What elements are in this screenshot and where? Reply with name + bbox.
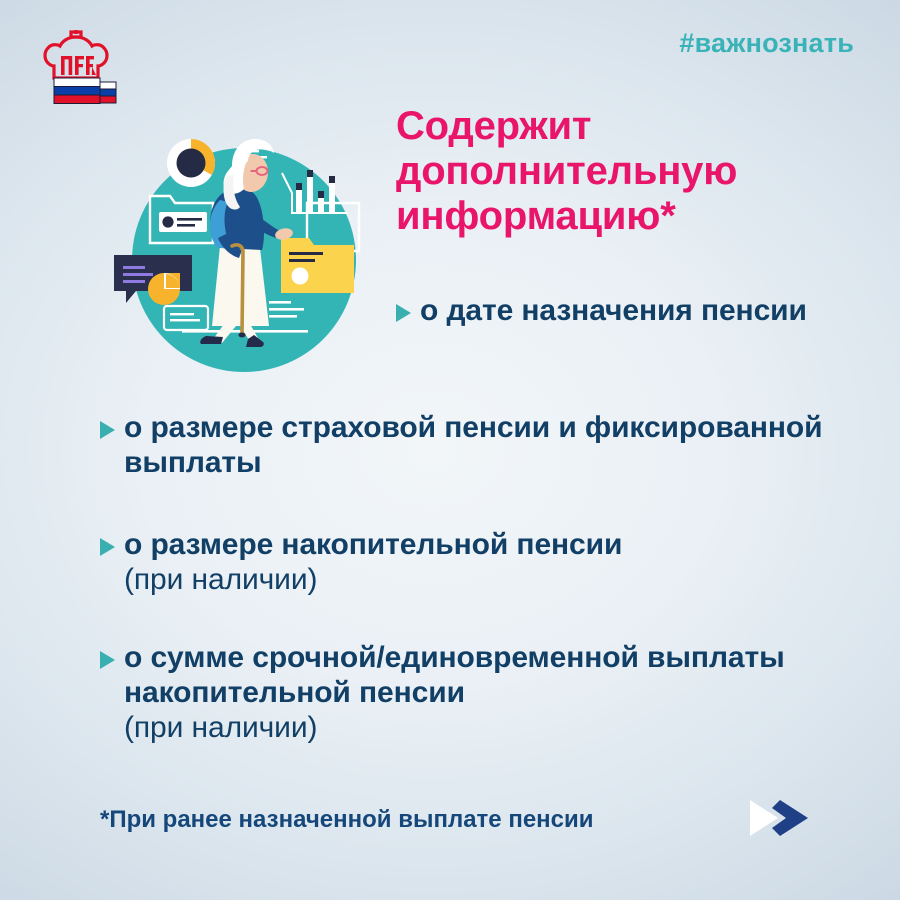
triangle-bullet-icon — [100, 421, 115, 439]
infographic-poster: #важнознать — [0, 0, 900, 900]
triangle-bullet-icon — [100, 538, 115, 556]
heading-line-2: дополнительную — [396, 149, 826, 194]
folder-card-contents — [159, 212, 207, 232]
bullet-text: о размере страховой пенсии и фикси­рован… — [124, 410, 890, 480]
page-title: Содержит дополнительную информацию* — [396, 104, 826, 240]
bullet-item-funded-pension-amount: о размере накопительной пенсии (при нали… — [100, 527, 890, 597]
bullet-text-wrap: о сумме срочной/единовременной выплаты н… — [124, 640, 890, 745]
pfr-logo — [30, 26, 122, 106]
hashtag-label: #важнознать — [679, 28, 854, 59]
elderly-woman-with-cane-illustration — [104, 128, 376, 400]
bullet-text-wrap: о размере накопительной пенсии (при нали… — [124, 527, 622, 597]
bullet-text: о дате назначения пенсии — [420, 293, 807, 328]
yellow-folder — [281, 238, 354, 293]
bullet-subtext: (при наличии) — [124, 562, 622, 597]
bullet-item-date-of-assignment: о дате назначения пенсии — [396, 293, 826, 328]
double-chevron-arrow-icon — [744, 794, 816, 842]
bullet-item-insurance-pension-amount: о размере страховой пенсии и фикси­рован… — [100, 410, 890, 480]
triangle-bullet-icon — [100, 651, 115, 669]
donut-chart — [167, 139, 215, 187]
bullet-text: о сумме срочной/единовременной выплаты н… — [124, 641, 785, 709]
triangle-bullet-icon — [396, 304, 411, 322]
bullet-item-lump-sum-payment: о сумме срочной/единовременной выплаты н… — [100, 640, 890, 745]
bullet-text: о размере накопительной пенсии — [124, 528, 622, 561]
bullet-subtext: (при наличии) — [124, 710, 890, 745]
heading-line-1: Содержит — [396, 104, 826, 149]
heading-line-3: информацию* — [396, 194, 826, 239]
footnote-text: *При ранее назначенной выплате пенсии — [100, 806, 594, 834]
